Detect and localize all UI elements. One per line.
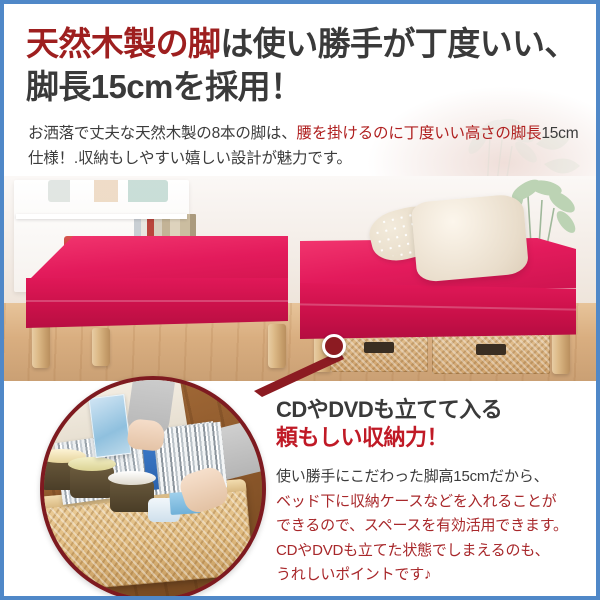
body-paragraph: 使い勝手にこだわった脚高15cmだから、 ベッド下に収納ケースなどを入れることが… [276, 465, 588, 588]
body-line-5: うれしいポイントです♪ [276, 563, 588, 588]
mattress-seam [26, 300, 288, 302]
storage-closeup-circle-photo [40, 376, 266, 600]
lede-part-1: お洒落で丈夫な天然木製の8本の脚は、 [28, 125, 297, 142]
body-line-3: できるので、スペースを有効活用できます。 [276, 514, 588, 539]
lede-paragraph: お洒落で丈夫な天然木製の8本の脚は、腰を掛けるのに丁度いい高さの脚長15cm仕様… [28, 121, 584, 171]
sub-headline: CDやDVDも立てて入る 頼もしい収納力！ [276, 396, 588, 452]
bed-leg [92, 328, 110, 366]
mattress-left-section [26, 236, 288, 328]
jar-lid [68, 457, 116, 471]
inset-held-cd-case [88, 394, 131, 458]
bed-leg [32, 324, 50, 368]
lower-text-block: CDやDVDも立てて入る 頼もしい収納力！ 使い勝手にこだわった脚高15cmだか… [276, 396, 588, 588]
sub-headline-line1: CDやDVDも立てて入る [276, 397, 502, 422]
jar-lid [108, 471, 156, 485]
basket-handle [476, 344, 506, 355]
header-section: 天然木製の脚は使い勝手が丁度いい、 脚長15cmを採用！ お洒落で丈夫な天然木製… [4, 4, 596, 176]
inset-left-hand [127, 418, 166, 452]
product-feature-banner: 天然木製の脚は使い勝手が丁度いい、 脚長15cmを採用！ お洒落で丈夫な天然木製… [0, 0, 600, 600]
shelf-jars [48, 180, 168, 202]
headline-red-phrase: 天然木製の脚 [26, 25, 220, 62]
sub-headline-line2-red: 頼もしい収納力！ [276, 424, 588, 452]
headline-rest-phrase: は使い勝手が丁度いい、 [220, 25, 576, 62]
storage-basket [432, 334, 550, 374]
lede-part-2-red: 腰を掛けるのに丁度いい高さの脚長 [297, 125, 542, 142]
body-line-1: 使い勝手にこだわった脚高15cmだから、 [276, 465, 588, 490]
headline-line2: 脚長15cmを採用！ [26, 65, 592, 108]
beige-cushion [411, 193, 530, 282]
pointer-dot [322, 334, 346, 358]
mattress-side-panel [26, 278, 288, 328]
headline: 天然木製の脚は使い勝手が丁度いい、 脚長15cmを採用！ [26, 22, 592, 108]
body-line-4: CDやDVDも立てた状態でしまえるのも、 [276, 539, 588, 564]
mattress-top-surface [26, 236, 288, 283]
bed-leg [552, 332, 570, 374]
mattress-side-panel [300, 283, 576, 339]
basket-handle [364, 342, 394, 353]
inset-jar [70, 464, 114, 498]
body-line-2: ベッド下に収納ケースなどを入れることが [276, 490, 588, 515]
